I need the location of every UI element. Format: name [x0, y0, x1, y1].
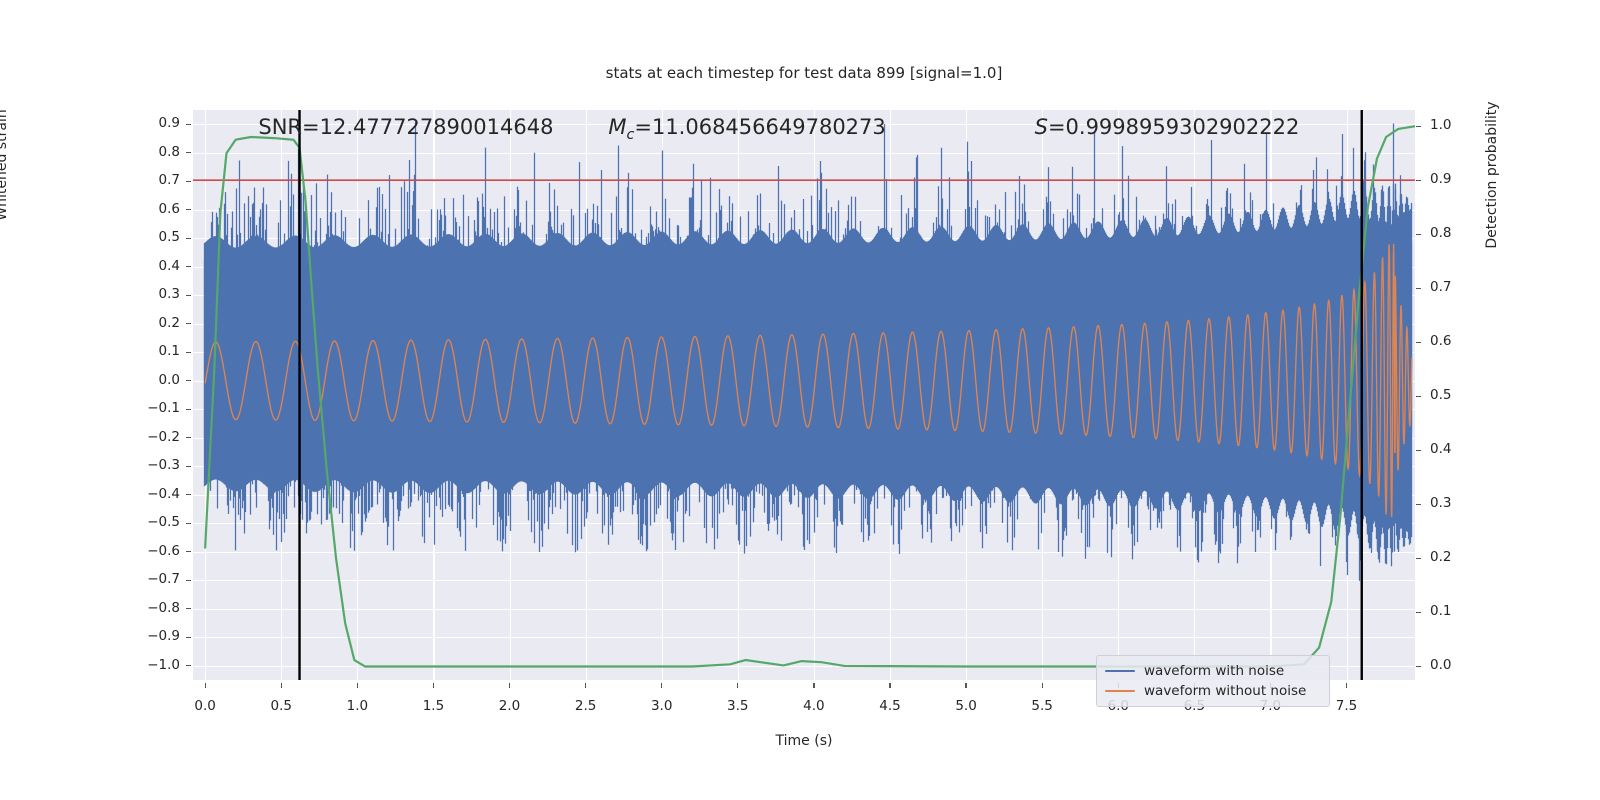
- legend-entry[interactable]: waveform without noise: [1105, 681, 1321, 701]
- y-axis-right-label: Detection probability: [1484, 60, 1500, 290]
- y-axis-tick-mark: [186, 181, 191, 182]
- annotation-chirp-mass: Mc=11.068456649780273: [608, 115, 885, 143]
- y-axis-tick-mark: [186, 608, 191, 609]
- legend-label: waveform with noise: [1144, 663, 1284, 679]
- y-axis-tick-label: −1.0: [120, 657, 180, 673]
- y-axis-tick-label: −0.6: [120, 543, 180, 559]
- y-axis-right-tick-mark: [1416, 126, 1421, 127]
- y-axis-tick-mark: [186, 437, 191, 438]
- legend[interactable]: waveform with noisewaveform without nois…: [1096, 655, 1330, 707]
- x-axis-tick-label: 5.5: [1031, 698, 1052, 714]
- y-axis-tick-label: −0.5: [120, 514, 180, 530]
- y-axis-right-tick-label: 0.4: [1430, 441, 1451, 457]
- x-axis-tick-label: 4.5: [879, 698, 900, 714]
- x-axis-tick-label: 2.0: [499, 698, 520, 714]
- chart-title: stats at each timestep for test data 899…: [193, 64, 1415, 82]
- y-axis-tick-mark: [186, 665, 191, 666]
- y-axis-tick-label: 0.1: [120, 343, 180, 359]
- y-axis-tick-label: 0.4: [120, 258, 180, 274]
- y-axis-right-tick-mark: [1416, 666, 1421, 667]
- x-axis-tick-mark: [813, 683, 814, 688]
- y-axis-right-tick-label: 0.9: [1430, 171, 1451, 187]
- y-axis-tick-mark: [186, 494, 191, 495]
- series-waveform-with-noise: [205, 122, 1412, 581]
- y-axis-right-tick-label: 0.1: [1430, 603, 1451, 619]
- y-axis-tick-mark: [186, 466, 191, 467]
- x-axis-tick-mark: [1042, 683, 1043, 688]
- x-axis-tick-label: 1.5: [423, 698, 444, 714]
- y-axis-right-tick-mark: [1416, 396, 1421, 397]
- y-axis-right-tick-label: 0.6: [1430, 333, 1451, 349]
- x-axis-tick-mark: [889, 683, 890, 688]
- y-axis-tick-label: 0.9: [120, 115, 180, 131]
- y-axis-tick-mark: [186, 124, 191, 125]
- x-axis-tick-label: 0.5: [271, 698, 292, 714]
- x-axis-tick-mark: [1346, 683, 1347, 688]
- y-axis-right-tick-label: 0.7: [1430, 279, 1451, 295]
- y-axis-tick-label: 0.5: [120, 229, 180, 245]
- x-axis-tick-mark: [509, 683, 510, 688]
- legend-label: waveform without noise: [1144, 683, 1306, 699]
- plot-area[interactable]: SNR=12.477727890014648 Mc=11.06845664978…: [193, 110, 1415, 680]
- y-axis-right-tick-mark: [1416, 342, 1421, 343]
- y-axis-right-tick-label: 0.3: [1430, 495, 1451, 511]
- x-axis-tick-mark: [357, 683, 358, 688]
- y-axis-tick-mark: [186, 238, 191, 239]
- x-axis-tick-label: 0.0: [194, 698, 215, 714]
- x-axis-tick-mark: [661, 683, 662, 688]
- x-axis-tick-label: 7.5: [1336, 698, 1357, 714]
- y-axis-tick-mark: [186, 152, 191, 153]
- legend-entry[interactable]: waveform with noise: [1105, 661, 1321, 681]
- y-axis-tick-label: −0.8: [120, 600, 180, 616]
- y-axis-tick-label: 0.0: [120, 372, 180, 388]
- y-axis-right-tick-label: 1.0: [1430, 117, 1451, 133]
- y-axis-right-tick-mark: [1416, 504, 1421, 505]
- y-axis-right-tick-mark: [1416, 558, 1421, 559]
- y-axis-tick-label: −0.9: [120, 628, 180, 644]
- y-axis-tick-label: 0.8: [120, 144, 180, 160]
- x-axis-tick-mark: [737, 683, 738, 688]
- y-axis-tick-mark: [186, 409, 191, 410]
- y-axis-right-tick-mark: [1416, 288, 1421, 289]
- y-axis-tick-label: −0.4: [120, 486, 180, 502]
- y-axis-tick-mark: [186, 551, 191, 552]
- y-axis-tick-label: −0.1: [120, 400, 180, 416]
- x-axis-tick-label: 1.0: [347, 698, 368, 714]
- y-axis-tick-mark: [186, 209, 191, 210]
- legend-color-swatch: [1105, 670, 1135, 672]
- y-axis-tick-label: −0.7: [120, 571, 180, 587]
- x-axis-tick-mark: [281, 683, 282, 688]
- x-axis-tick-mark: [585, 683, 586, 688]
- y-axis-right-tick-mark: [1416, 180, 1421, 181]
- y-axis-tick-label: 0.7: [120, 172, 180, 188]
- y-axis-right-tick-mark: [1416, 450, 1421, 451]
- y-axis-tick-mark: [186, 580, 191, 581]
- x-axis-tick-label: 3.5: [727, 698, 748, 714]
- x-axis-label: Time (s): [193, 733, 1415, 749]
- x-axis-tick-mark: [433, 683, 434, 688]
- y-axis-tick-mark: [186, 352, 191, 353]
- y-axis-tick-mark: [186, 523, 191, 524]
- y-axis-right-tick-mark: [1416, 234, 1421, 235]
- plot-series-layer: [193, 110, 1415, 680]
- legend-color-swatch: [1105, 690, 1135, 692]
- y-axis-tick-label: 0.3: [120, 286, 180, 302]
- y-axis-left-label: Whitened strain: [0, 50, 10, 280]
- y-axis-right-tick-label: 0.2: [1430, 549, 1451, 565]
- y-axis-tick-mark: [186, 380, 191, 381]
- x-axis-tick-label: 2.5: [575, 698, 596, 714]
- x-axis-tick-mark: [205, 683, 206, 688]
- x-axis-tick-label: 5.0: [955, 698, 976, 714]
- annotation-snr: SNR=12.477727890014648: [258, 115, 553, 139]
- y-axis-tick-mark: [186, 637, 191, 638]
- y-axis-right-tick-label: 0.8: [1430, 225, 1451, 241]
- x-axis-tick-label: 3.0: [651, 698, 672, 714]
- y-axis-tick-label: 0.2: [120, 315, 180, 331]
- x-axis-tick-mark: [965, 683, 966, 688]
- y-axis-tick-mark: [186, 295, 191, 296]
- x-axis-tick-label: 4.0: [803, 698, 824, 714]
- y-axis-right-tick-label: 0.0: [1430, 657, 1451, 673]
- y-axis-tick-label: −0.2: [120, 429, 180, 445]
- y-axis-right-tick-label: 0.5: [1430, 387, 1451, 403]
- y-axis-tick-mark: [186, 323, 191, 324]
- y-axis-right-tick-mark: [1416, 612, 1421, 613]
- y-axis-tick-mark: [186, 266, 191, 267]
- y-axis-tick-label: −0.3: [120, 457, 180, 473]
- annotation-score: S=0.9998959302902222: [1035, 115, 1300, 139]
- figure-canvas: stats at each timestep for test data 899…: [0, 0, 1600, 800]
- y-axis-tick-label: 0.6: [120, 201, 180, 217]
